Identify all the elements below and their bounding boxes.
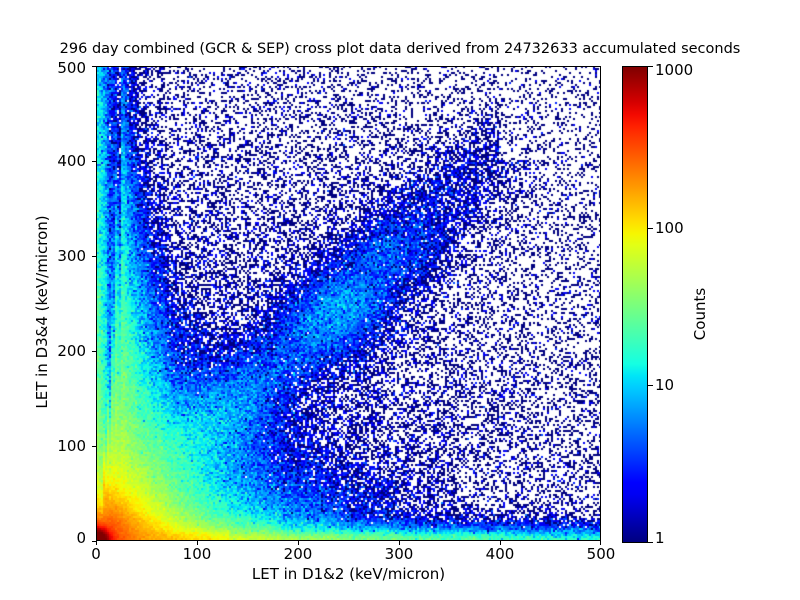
y-ticklabel-500: 500: [30, 59, 86, 77]
y-tick-500: [92, 66, 96, 67]
title-line-1: 296 day combined (GCR & SEP) cross plot …: [0, 40, 800, 58]
y-tick-300: [92, 256, 96, 257]
x-ticklabel-400: 400: [486, 545, 515, 563]
colorbar-tick-1: [648, 542, 653, 543]
x-ticklabel-0: 0: [91, 545, 101, 563]
colorbar-ticklabel-10: 10: [655, 376, 674, 394]
colorbar-gradient: [623, 67, 647, 542]
colorbar-tick-10: [648, 385, 653, 386]
x-ticklabel-100: 100: [183, 545, 212, 563]
y-ticklabel-400: 400: [30, 152, 86, 170]
x-axis-label: LET in D1&2 (keV/micron): [96, 565, 601, 583]
plot-area: [96, 66, 601, 541]
colorbar-title: Counts: [691, 244, 709, 384]
y-tick-200: [92, 351, 96, 352]
x-ticklabel-500: 500: [587, 545, 616, 563]
y-ticklabel-0: 0: [30, 529, 86, 547]
x-ticklabel-200: 200: [284, 545, 313, 563]
y-tick-0: [92, 541, 96, 542]
y-ticklabel-100: 100: [30, 437, 86, 455]
x-ticklabel-300: 300: [385, 545, 414, 563]
scatter-heatmap-canvas: [97, 67, 600, 540]
y-tick-100: [92, 446, 96, 447]
colorbar-ticklabel-1000: 1000: [655, 61, 693, 79]
colorbar-tick-100: [648, 228, 653, 229]
colorbar-ticklabel-100: 100: [655, 219, 684, 237]
y-tick-400: [92, 161, 96, 162]
colorbar: [622, 66, 648, 543]
colorbar-tick-1000: [648, 66, 653, 67]
y-axis-label: LET in D3&4 (keV/micron): [33, 212, 51, 412]
colorbar-ticklabel-1: 1: [655, 529, 665, 547]
